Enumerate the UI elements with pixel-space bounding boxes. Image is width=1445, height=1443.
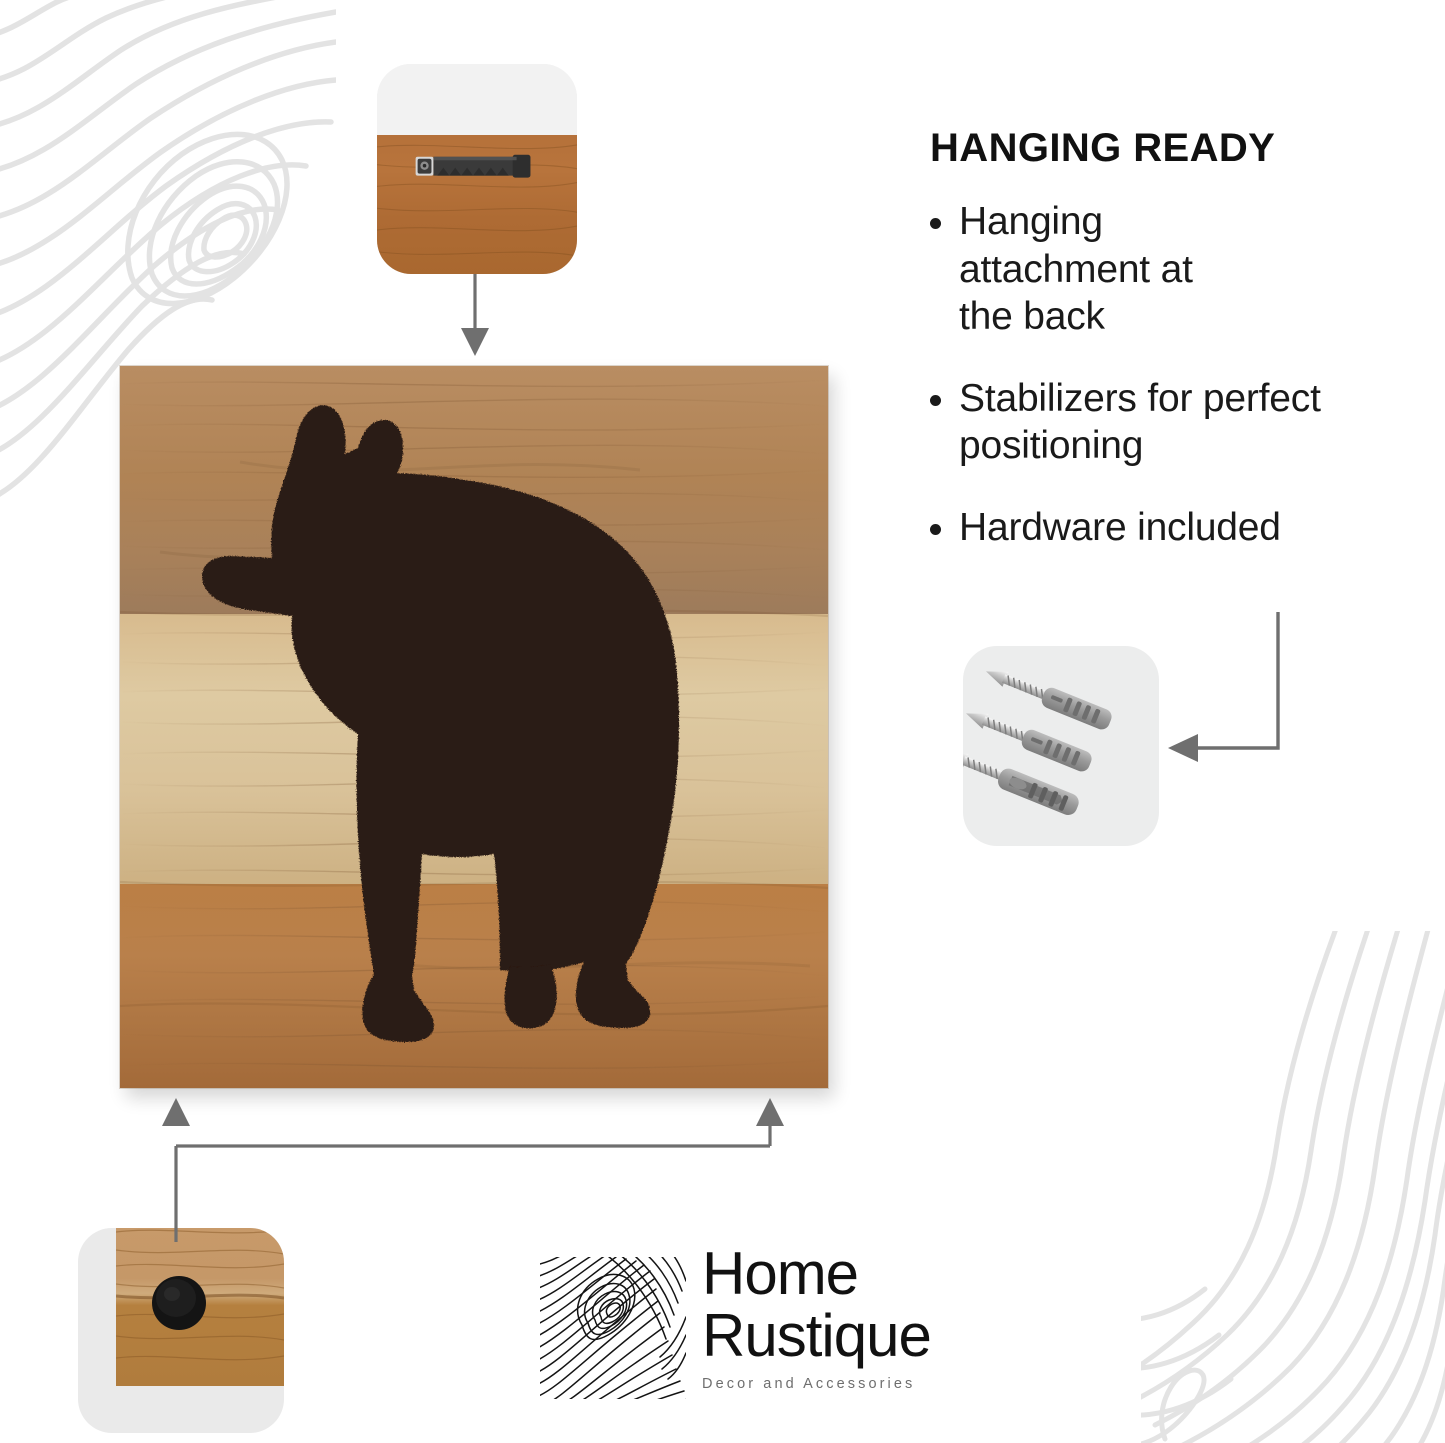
arrow-hardware-to-tile [1150, 608, 1310, 776]
product-plaque [120, 366, 828, 1088]
list-item-hardware: Hardware included [930, 504, 1390, 552]
brand-logo: Home Rustique Decor and Accessories [540, 1243, 912, 1413]
bear-silhouette [120, 366, 828, 1088]
brand-name-line2: Rustique [702, 1304, 917, 1369]
list-item-stabilizers: Stabilizers for perfect positioning [930, 375, 1390, 470]
wood-plaque-face [120, 366, 828, 1088]
screws-and-anchors-icon [963, 646, 1159, 846]
callout-hardware-photo [963, 646, 1159, 846]
sawtooth-hanger-icon [377, 135, 577, 274]
brand-tagline: Decor and Accessories [702, 1376, 917, 1392]
stabilizer-wood-background [116, 1228, 284, 1386]
infographic-canvas: HANGING READY Hanging attachment at the … [0, 0, 1445, 1443]
bullet-text: Stabilizers for perfect positioning [959, 375, 1377, 470]
callout-stabilizer-photo [78, 1228, 284, 1433]
arrow-hanger-to-plaque [440, 272, 510, 360]
rubber-bumper-icon [116, 1228, 284, 1386]
arrow-stabilizer-to-plaque-corners [150, 1096, 810, 1248]
bullet-text: Hardware included [959, 504, 1377, 552]
bullet-dot-icon [930, 218, 941, 229]
topographic-pattern-bottom-right [1141, 931, 1445, 1443]
list-item-hanging-attachment: Hanging attachment at the back [930, 198, 1390, 341]
callout-hanger-photo [377, 64, 577, 274]
bullet-dot-icon [930, 524, 941, 535]
woodgrain-logo-mark-icon [540, 1257, 686, 1399]
brand-wordmark: Home Rustique Decor and Accessories [702, 1243, 917, 1392]
page-title: HANGING READY [930, 126, 1390, 170]
bullet-text: Hanging attachment at the back [959, 198, 1224, 341]
feature-copy-block: HANGING READY Hanging attachment at the … [930, 126, 1390, 585]
brand-name-line1: Home [702, 1243, 917, 1304]
bullet-dot-icon [930, 395, 941, 406]
